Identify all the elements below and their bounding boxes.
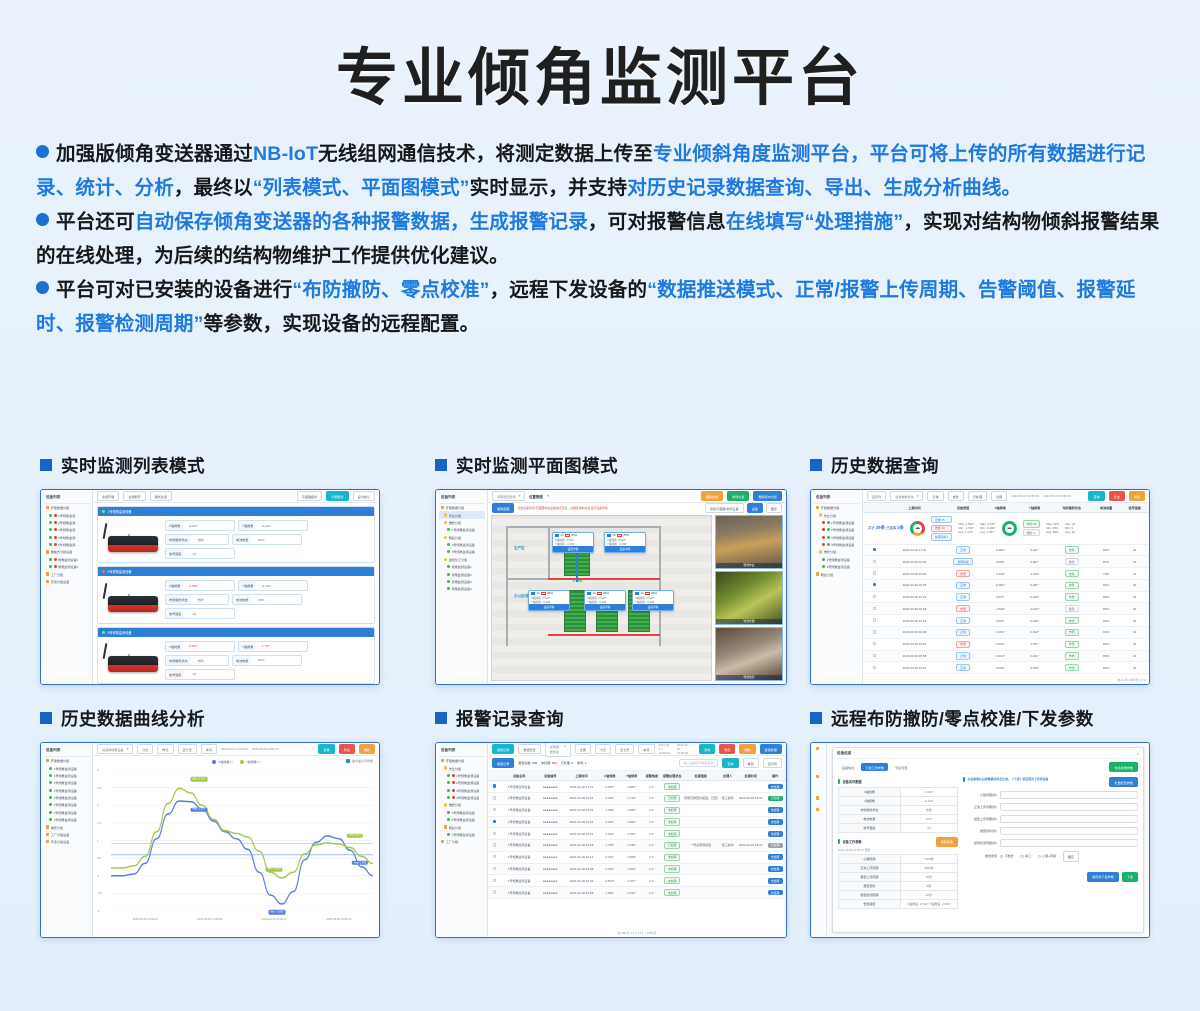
form-row: 报警延时(秒) (963, 827, 1138, 835)
tree-node[interactable]: 倾角监测设备1 (44, 556, 90, 563)
checkbox-icon[interactable] (873, 560, 876, 563)
device-detail-button[interactable]: 设备详情 (633, 604, 673, 610)
cell-op[interactable]: 去处理 (764, 875, 786, 887)
filter-all[interactable]: 全部 (991, 491, 1007, 501)
metric-battery: 电池电量85% (232, 655, 302, 666)
tree-node[interactable]: 开锁数据分组 (439, 757, 485, 764)
tab-node-list[interactable]: 节点列表 (891, 763, 911, 771)
table-header-row: 上报时间 设备类型 X轴倾角 Y轴倾角 布防撤防状态 电池电量 信号强度 (863, 503, 1149, 513)
device-popup[interactable]: 2085% X轴倾角: 0.020° Y轴倾角: -0.240° 设备详情 (552, 532, 594, 553)
cell-op[interactable]: 去处理 (764, 851, 786, 863)
select-all-button[interactable]: 模式全选 (150, 491, 172, 501)
table-row[interactable]: 1号倾角监测设备●●●●●●●●2024-03-18 16:252.079°1.… (488, 816, 786, 828)
save-and-send-button[interactable]: 保存并下发参数 (1087, 872, 1119, 882)
tree-node-label: 1号倾角监测设备 (452, 527, 475, 532)
checkbox-icon[interactable] (493, 832, 496, 835)
signal-value: 20 (593, 592, 596, 595)
row-action-button[interactable]: 去处理 (768, 819, 783, 825)
checkbox-icon[interactable] (873, 583, 876, 586)
alarm-stats-toggle[interactable]: 报警记录 (492, 758, 514, 768)
tree-node[interactable]: 环境分组设备 (44, 838, 90, 845)
tree-node[interactable]: 2号倾角监测设备 (439, 541, 485, 548)
table-row[interactable]: 1号倾角监测设备●●●●●●●●2024-03-18 16:212.104°1.… (488, 828, 786, 840)
close-icon[interactable]: × (1137, 751, 1139, 756)
table-row[interactable]: 1号倾角监测设备●●●●●●●●2024-03-18 16:181.796°1.… (488, 840, 786, 852)
tree-node[interactable]: 环境分组设备 (44, 578, 90, 585)
time-from[interactable]: 2024-03-27 23:59:00 (659, 743, 673, 755)
row-checkbox[interactable] (863, 615, 886, 627)
tree-node[interactable]: 6号倾角监测设备 (439, 816, 485, 823)
device-detail-button[interactable]: 设备详情 (553, 546, 593, 552)
tree-node[interactable]: 作业分组 (439, 764, 485, 771)
folder-icon (444, 513, 447, 516)
row-action-button[interactable]: 去处理 (768, 890, 783, 896)
device-tree-sidebar[interactable]: 设备列表 开锁数据分组 作业分组 1号倾角监测设备 2号倾角监测设备 3号倾角监… (436, 743, 488, 937)
col-x: X轴倾角 (599, 771, 621, 781)
device-popup[interactable]: 2085% X轴倾角: 0.020° Y轴倾角: -0.240° 设备详情 (632, 590, 674, 611)
device-card-header: 1号倾角监测设备 (98, 507, 374, 516)
delete-location-button[interactable]: 删除选中位置 (753, 491, 782, 501)
cell-handle-time (737, 851, 764, 863)
refresh-button[interactable]: 刷新 (739, 744, 755, 754)
device-tree-sidebar[interactable]: 设备列表 开锁数据分组 作业分组 维修分组 1号倾角监测设备 明后分组 2号倾角… (436, 490, 488, 684)
filter-normal[interactable]: 正常 (927, 491, 943, 501)
cell-battery: 88% (1092, 662, 1121, 674)
stat-handled: 已处理: 6 (561, 761, 573, 765)
cell-op[interactable]: 已处理 (764, 792, 786, 804)
tree-node[interactable]: 5号倾角监测设备 (439, 809, 485, 816)
tree-node[interactable]: 3号倾角监测设备 (439, 548, 485, 555)
tree-node[interactable]: 维修分组 (814, 548, 860, 555)
read-params-button[interactable]: 读取参数 (936, 837, 958, 847)
device-card[interactable]: 3号倾角监测设备 X轴倾角2.504° Y轴倾角1.767° 布防撤防状态布防 (97, 627, 375, 684)
folder-icon (816, 775, 819, 778)
device-popup[interactable]: 2085% X轴倾角: 0.020° Y轴倾角: -0.240° 设备详情 (528, 590, 570, 611)
type-badge: 告警 (956, 570, 970, 577)
tree-node[interactable]: 4号倾角监测... (44, 534, 90, 541)
row-checkbox[interactable] (863, 627, 886, 639)
cell-y: 0.155° (1017, 662, 1051, 674)
table-row[interactable]: 1号倾角监测设备●●●●●●●●2024-03-18 16:262.150°1.… (488, 792, 786, 804)
table-row[interactable]: 2024-03-18 16:26处理完成0.090°0.287°撤防87%19 (863, 556, 1149, 568)
row-checkbox[interactable] (863, 603, 886, 615)
tab-device[interactable]: 设备 (747, 503, 763, 513)
set-default-button[interactable]: 设为默认 (353, 491, 375, 501)
cell-state: 布防 (1052, 662, 1092, 674)
zero-calibration-button[interactable]: 零点校准参数 (1109, 762, 1138, 772)
tree-node[interactable]: 6号倾角监测设备 (814, 563, 860, 570)
tree-node[interactable]: 6号倾角监测设备 (44, 801, 90, 808)
row-action-button[interactable]: 去处理 (768, 878, 783, 884)
sort-select[interactable]: 最新报警优先▾ (545, 742, 571, 757)
tree-node[interactable]: 开锁数据分组 (44, 757, 90, 764)
cell-op[interactable]: 去处理 (764, 816, 786, 828)
query-button[interactable]: 查询 (1088, 491, 1104, 501)
cell-op[interactable]: 去处理 (764, 828, 786, 840)
field-input[interactable] (1000, 803, 1138, 811)
bullet-dot-icon (36, 213, 49, 226)
filter-week[interactable]: 近七天 (615, 744, 634, 754)
tree-node[interactable] (814, 807, 824, 813)
tree-node[interactable]: 3号倾角监测设备 (814, 534, 860, 541)
antenna-icon (103, 522, 108, 538)
tree-node[interactable]: 8号倾角监测设备 (44, 816, 90, 823)
device-popup[interactable]: 2085% X轴倾角: 0.020° Y轴倾角: -0.240° 设备详情 (584, 590, 626, 611)
form-row: 正常上传周期(秒) (963, 803, 1138, 811)
row-checkbox[interactable] (488, 816, 502, 828)
cell-angle: 2.1° (642, 781, 661, 793)
checkbox-icon[interactable] (873, 654, 876, 657)
section-alarm: 报警记录查询 设备列表 开锁数据分组 作业分组 1号倾角监测设备 2号倾角监测设… (435, 705, 795, 938)
table-row[interactable]: 2024-03-18 16:08正常0.104°0.392°布防91%19 (863, 627, 1149, 639)
disconnect-all-button[interactable]: 全部断开 (123, 491, 145, 501)
field-input[interactable] (1000, 791, 1138, 799)
site-photo[interactable]: 现场监控 (715, 627, 783, 681)
refresh-button[interactable]: 刷新 (359, 744, 375, 754)
checkbox-icon[interactable] (493, 855, 496, 858)
table-row[interactable]: 2024-03-18 16:26告警-2.106°-1.042°布防79%21 (863, 568, 1149, 580)
col-type: 设备类型 (943, 503, 983, 513)
row-action-button[interactable]: 去处理 (768, 807, 783, 813)
param-value: 0.020° (900, 787, 957, 796)
cell-op[interactable]: 去处理 (764, 887, 786, 899)
plan-mode-button[interactable]: 平面图模式 (297, 491, 322, 501)
table-row[interactable]: 2024-03-18 15:51正常0.066°0.155°布防88%20 (863, 662, 1149, 674)
row-checkbox[interactable] (488, 828, 502, 840)
tree-node[interactable]: 楼桩式分组设备 (44, 548, 90, 555)
device-detail-button[interactable]: 设备详情 (529, 604, 569, 610)
y-tick-label: 0 (97, 874, 99, 878)
time-from[interactable]: 2024-03-27 23:59:00 (1011, 494, 1039, 498)
sidebar-title: 设备列表 (439, 746, 485, 757)
tree-node[interactable]: 倾角监测设备4 (439, 585, 485, 592)
field-input[interactable] (1000, 815, 1138, 823)
param-row: X轴倾角0.020° (839, 787, 958, 796)
metric-x-angle: X轴倾角0.020° (165, 520, 235, 531)
status-dot-icon (49, 796, 52, 799)
checkbox-icon[interactable] (493, 808, 496, 811)
tree-node[interactable]: 1号倾角监测设备 (439, 526, 485, 533)
tab-alarm-records[interactable]: 报警记录 (492, 744, 514, 754)
tree-node-label: 5号倾角监测设备 (452, 810, 475, 815)
send-button[interactable]: 下发 (1122, 872, 1138, 882)
add-plan-device-button[interactable]: 添加平面图/新增设备 (705, 503, 744, 513)
cell-op[interactable]: 去处理 (764, 863, 786, 875)
checkbox-icon[interactable] (493, 843, 496, 846)
row-checkbox[interactable] (863, 556, 886, 568)
row-action-button[interactable]: 已处理 (768, 796, 783, 802)
search-input[interactable]: 输入设备名称/编号搜索 (679, 759, 719, 768)
export-button[interactable]: 导出 (339, 744, 355, 754)
table-row[interactable]: 1号倾角监测设备●●●●●●●●2024-03-18 16:122.331°1.… (488, 851, 786, 863)
tab-device-info[interactable]: 设备信息 (838, 763, 858, 771)
param-label: 信号强度 (839, 823, 901, 832)
alarm-pagination[interactable]: 共 258 条 1 2 3 4 5 6 > 10条/页 (488, 929, 786, 937)
row-checkbox[interactable] (488, 875, 502, 887)
metric-arm-state: 布防撤防状态布防 (165, 594, 229, 605)
row-checkbox[interactable] (488, 781, 502, 793)
site-photo[interactable]: 智慧仓储 (715, 571, 783, 625)
show-columns-button[interactable]: 显示列 (867, 491, 886, 501)
tree-node[interactable]: 维修分组 (44, 823, 90, 830)
section-title: 历史数据查询 (831, 453, 939, 478)
checkbox-icon[interactable] (873, 571, 876, 574)
tree-node[interactable]: 7号倾角监测设备 (439, 831, 485, 838)
time-to[interactable]: 2025-09-28 13:09:40 (252, 747, 279, 751)
cell-y: 0.240° (1017, 615, 1051, 627)
batch-config-button[interactable]: 批量配置参数 (1109, 777, 1138, 787)
cell-op[interactable]: 去处理 (764, 804, 786, 816)
tree-node[interactable]: 4号倾角监测设备 (439, 794, 485, 801)
param-label: 报警延时 (839, 881, 901, 890)
x-tick-label: 2025-09-28 13:09:40 (197, 918, 222, 921)
tree-node[interactable]: 倾角监测设备1 (439, 563, 485, 570)
tree-node[interactable]: 明后分组 (439, 534, 485, 541)
minmaxavg-toggle[interactable]: 最大最小平均值 (346, 759, 373, 763)
export-button[interactable]: 导出 (1109, 491, 1125, 501)
param-row: 告警阈值X轴角度: 2.500° Y轴角度: 2.500° (839, 899, 958, 908)
edit-basemap-button[interactable]: 编辑底图 (492, 503, 514, 513)
cell-op[interactable]: 去处理 (764, 781, 786, 793)
field-input[interactable] (1000, 839, 1138, 847)
site-select[interactable]: 济南项目现场▾ (492, 491, 525, 501)
row-checkbox[interactable] (488, 840, 502, 852)
device-tree-sidebar[interactable]: 设备列表 开锁数据分组 1号倾角监测... 2号倾角监测... 3号倾角监测..… (41, 490, 93, 684)
row-checkbox[interactable] (863, 662, 886, 674)
device-tree-sidebar[interactable]: 设备列表 开锁数据分组 1号倾角监测设备 2号倾角监测设备 3号倾角监测设备 4… (41, 743, 93, 937)
row-checkbox[interactable] (488, 887, 502, 899)
row-action-button[interactable]: 去处理 (768, 784, 783, 790)
query-button[interactable]: 查询 (318, 744, 334, 754)
tree-node[interactable]: 维修分组 (439, 801, 485, 808)
floor-plan-canvas[interactable]: 生产区 生产车间 办公区域 仓储区 20 (491, 515, 712, 681)
tree-node[interactable]: 1号倾角监测设备 (44, 764, 90, 771)
filter-alarm[interactable]: 告警 (948, 491, 964, 501)
tree-node[interactable]: 1号倾角监测... (44, 511, 90, 518)
y-angle: Y轴倾角: -0.240° (555, 542, 575, 546)
x-avg: Avg: 1.273° (958, 530, 974, 534)
query-button[interactable]: 查询 (699, 744, 715, 754)
tree-node[interactable]: 倾角监测设备2 (44, 563, 90, 570)
tree-node[interactable]: 3号倾角监测设备 (439, 787, 485, 794)
tree-node[interactable]: 2号倾角监测... (44, 519, 90, 526)
metric-y-angle: Y轴倾角-0.240° (238, 520, 308, 531)
tree-node[interactable] (814, 746, 824, 752)
range-week[interactable]: 近七天 (178, 744, 197, 754)
checkbox-icon[interactable] (493, 820, 496, 823)
tree-node[interactable]: 作业分组 (814, 511, 860, 518)
tree-node[interactable] (814, 774, 824, 780)
table-row[interactable]: 2024-03-18 16:18告警-1.536°-0.210°撤防85%20 (863, 603, 1149, 615)
tree-node[interactable]: 油田化工分组 (439, 556, 485, 563)
checkbox-icon[interactable] (873, 618, 876, 621)
chart-legend[interactable]: X轴倾角(°) Y轴倾角(°) (97, 758, 375, 764)
row-checkbox[interactable] (863, 650, 886, 662)
field-input[interactable] (1000, 827, 1138, 835)
tree-node[interactable]: 维修分组 (439, 519, 485, 526)
tree-node[interactable]: 明后分组 (814, 570, 860, 577)
edit-location-button[interactable]: 编辑位置 (701, 491, 723, 501)
row-checkbox[interactable] (863, 638, 886, 650)
radio-no-push[interactable]: 不推送 (1000, 854, 1013, 858)
row-action-button[interactable]: 去处理 (768, 866, 783, 872)
table-row[interactable]: 1号倾角监测设备●●●●●●●●2024-03-18 17:312.078°1.… (488, 781, 786, 793)
tree-node[interactable]: 工厂分组设备 (44, 831, 90, 838)
tab-graphic[interactable]: 图形 (766, 503, 782, 513)
tree-node[interactable]: 倾角监测设备2 (439, 570, 485, 577)
range-yesterday[interactable]: 昨日 (157, 744, 173, 754)
tree-node[interactable]: 5号倾角监测... (44, 541, 90, 548)
metric-value: 2.504° (183, 642, 203, 651)
tree-node-selected[interactable]: 作业分组 (439, 511, 485, 518)
table-row[interactable]: 2024-03-18 17:31正常-0.092°0.047°布防92%20 (863, 545, 1149, 556)
device-card[interactable]: 1号倾角监测设备 X轴倾角0.020° Y轴倾角-0.240° 布防撤防状态布防 (97, 506, 375, 563)
range-month[interactable]: 本月 (201, 744, 217, 754)
device-detail-button[interactable]: 设备详情 (585, 604, 625, 610)
checkbox-icon[interactable] (493, 890, 496, 893)
tree-node[interactable]: 1号倾角监测设备 (439, 772, 485, 779)
tree-node[interactable]: 5号倾角监测设备 (814, 556, 860, 563)
checkbox-icon[interactable] (873, 548, 876, 551)
workparams-updated-time: 2024-09-28 12:25:37 更新 (838, 848, 958, 852)
cell-op[interactable]: 已处理 (764, 840, 786, 852)
checkbox-icon[interactable] (493, 879, 496, 882)
tab-send-params[interactable]: 下发工作参数 (861, 763, 888, 771)
checkbox-icon[interactable] (873, 642, 876, 645)
device-card-body: X轴倾角2.504° Y轴倾角1.767° 布防撤防状态布防 电池电量85% 信… (98, 637, 374, 684)
checkbox-icon[interactable] (873, 666, 876, 669)
tree-node[interactable]: 7号倾角监测设备 (44, 809, 90, 816)
edit-pencil-icon[interactable]: ✎ (547, 494, 550, 498)
table-row[interactable]: 2024-03-18 16:02告警2.504°1.767°布防86%20 (863, 638, 1149, 650)
table-row[interactable]: 2024-03-18 16:25正常-0.092°0.281°布防92%20 (863, 579, 1149, 591)
list-mode-button[interactable]: 列表模式 (326, 491, 348, 501)
status-dot-icon (49, 811, 52, 814)
cell-measure (683, 863, 718, 875)
row-checkbox[interactable] (488, 804, 502, 816)
table-row[interactable]: 1号倾角监测设备●●●●●●●●2024-03-18 16:082.015°1.… (488, 863, 786, 875)
site-photo[interactable]: 现场作业 (715, 515, 783, 569)
device-select[interactable]: 请选择倾角设备▾ (97, 744, 133, 754)
cell-person (718, 887, 737, 899)
row-checkbox[interactable] (488, 792, 502, 804)
tree-node[interactable]: 开锁数据分组 (814, 504, 860, 511)
confirm-button[interactable]: 确定 (1063, 851, 1079, 861)
export-button[interactable]: 导出 (719, 744, 735, 754)
row-checkbox[interactable] (863, 568, 886, 580)
device-detail-button[interactable]: 设备详情 (605, 546, 645, 552)
row-action-button[interactable]: 去处理 (768, 831, 783, 837)
metric-signal: 信号强度20 (165, 669, 235, 680)
radio-serial[interactable]: 串口 (1020, 854, 1030, 858)
row-checkbox[interactable] (488, 851, 502, 863)
tree-node[interactable]: 开锁数据分组 (439, 504, 485, 511)
checkbox-icon[interactable] (493, 784, 496, 787)
row-checkbox[interactable] (863, 591, 886, 603)
filter-today[interactable]: 今日 (595, 744, 611, 754)
type-badge: 告警 (956, 641, 970, 648)
radio-heartbeat[interactable]: 心跳+周期 (1038, 854, 1056, 858)
tree-node[interactable]: 工厂分组 (439, 838, 485, 845)
device-tree-sidebar[interactable]: 设备列表 开锁数据分组 作业分组 1号倾角监测设备 2号倾角监测设备 3号倾角监… (811, 490, 863, 684)
add-location-button[interactable]: 新增位置 (727, 491, 749, 501)
row-action-button[interactable]: 去处理 (768, 854, 783, 860)
tree-node[interactable]: 3号倾角监测... (44, 526, 90, 533)
checkbox-icon[interactable] (873, 607, 876, 610)
tree-node[interactable]: 工厂分组 (44, 570, 90, 577)
tree-node[interactable]: 倾角监测设备3 (439, 578, 485, 585)
tree-node[interactable]: 2号倾角监测设备 (439, 779, 485, 786)
device-popup[interactable]: 2085% X轴倾角: 0.020° Y轴倾角: -0.240° 设备详情 (604, 532, 646, 553)
table-row[interactable]: 1号倾角监测设备●●●●●●●●2024-03-18 16:261.782°1.… (488, 804, 786, 816)
tree-node[interactable]: 2号倾角监测设备 (44, 772, 90, 779)
tree-node[interactable]: 4号倾角监测设备 (44, 787, 90, 794)
history-pagination[interactable]: 共 29 条 10条/页 1 2 3 (863, 676, 1149, 684)
tab-alarm-config[interactable]: 报警配置 (518, 744, 540, 754)
row-checkbox[interactable] (488, 863, 502, 875)
tree-node[interactable]: 3号倾角监测设备 (44, 779, 90, 786)
tree-node[interactable]: 2号倾角监测设备 (814, 526, 860, 533)
table-row[interactable]: 1号倾角监测设备●●●●●●●●2024-03-18 16:022.504°1.… (488, 875, 786, 887)
status-dot-icon (54, 543, 57, 546)
tree-node[interactable] (814, 795, 824, 801)
tree-node[interactable]: 开锁数据分组 (44, 504, 90, 511)
table-row[interactable]: 2024-03-18 16:12正常0.020°0.240°布防90%20 (863, 615, 1149, 627)
table-row[interactable]: 2024-03-18 16:21正常0.047°0.168°布防88%18 (863, 591, 1149, 603)
batch-handle-button[interactable]: 批量处理 (760, 744, 782, 754)
time-from[interactable]: 2025-09-21 13:09:40 (221, 747, 248, 751)
table-row[interactable]: 2024-03-18 15:58正常0.012°0.201°布防89%21 (863, 650, 1149, 662)
search-button[interactable]: 查询 (722, 758, 738, 768)
curve-chart[interactable]: X轴倾角(°) Y轴倾角(°) 最大最小平均值 32.521.510.50-0.… (93, 756, 379, 937)
filter-handled[interactable]: 已处理 (968, 491, 987, 501)
show-columns-button[interactable]: 显示列 (763, 758, 782, 768)
cell-device-sn: ●●●●●●●● (537, 875, 564, 887)
table-row[interactable]: 1号倾角监测设备●●●●●●●●2024-03-18 15:581.990°1.… (488, 887, 786, 899)
tree-node[interactable]: 5号倾角监测设备 (44, 794, 90, 801)
legend-y[interactable]: Y轴倾角(°) (240, 760, 260, 764)
time-to[interactable]: 2024-06-18 23:59:00 (1043, 494, 1071, 498)
checkbox-icon[interactable] (873, 595, 876, 598)
tree-node[interactable]: 1号倾角监测设备 (814, 519, 860, 526)
tree-node[interactable]: 明后分组 (439, 823, 485, 830)
tree-node[interactable]: 4号倾角监测设备 (814, 541, 860, 548)
time-to[interactable]: 2024-06-18 23:59:00 (677, 743, 691, 755)
checkbox-icon[interactable] (873, 630, 876, 633)
range-today[interactable]: 今日 (137, 744, 153, 754)
unlock-all-button[interactable]: 全部开锁 (97, 491, 119, 501)
refresh-button[interactable]: 刷新 (1129, 491, 1145, 501)
device-card[interactable]: 2号倾角监测设备 X轴倾角-1.536° Y轴倾角-0.210° 布防撤防状态布… (97, 566, 375, 623)
row-checkbox[interactable] (863, 545, 886, 556)
legend-x[interactable]: X轴倾角(°) (212, 760, 232, 764)
cell-x: 0.104° (983, 627, 1017, 639)
stat-value: 258 (532, 761, 537, 765)
checkbox-icon[interactable] (493, 796, 496, 799)
folder-icon (819, 550, 822, 553)
cell-device-sn: ●●●●●●●● (537, 792, 564, 804)
reset-button[interactable]: 重置 (743, 758, 759, 768)
cell-state: 撤防 (1052, 556, 1092, 568)
row-checkbox[interactable] (863, 579, 886, 591)
cell-y: 1.385° (621, 804, 643, 816)
filter-all[interactable]: 全部 (575, 744, 591, 754)
checkbox-icon[interactable] (493, 867, 496, 870)
filter-month[interactable]: 本月 (638, 744, 654, 754)
row-action-button[interactable]: 已处理 (768, 843, 783, 849)
cell-device-name: 1号倾角监测设备 (502, 792, 537, 804)
sort-select[interactable]: 最新数据优先▾ (890, 491, 923, 501)
